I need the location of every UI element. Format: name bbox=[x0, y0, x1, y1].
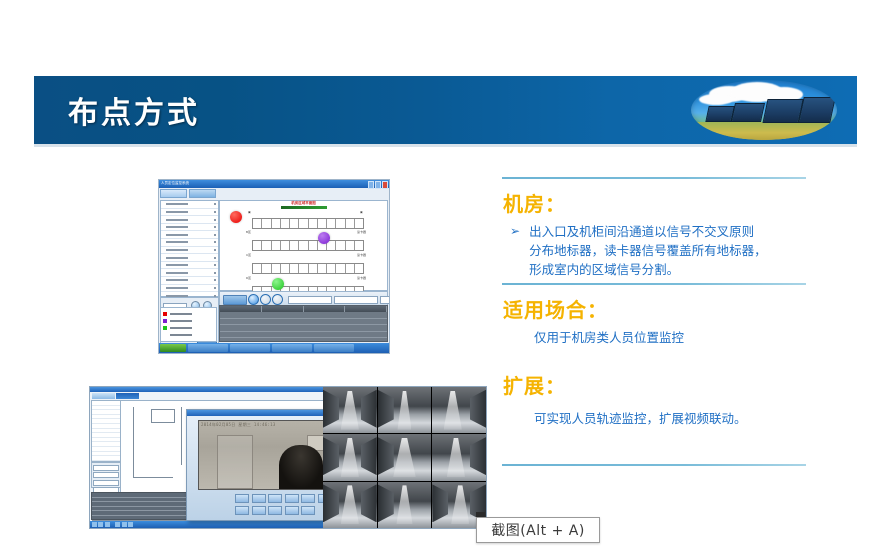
section-heading-kuozhan: 扩展： bbox=[503, 370, 566, 399]
slide-title-bar: 布点方式 bbox=[34, 76, 857, 144]
dialog-button bbox=[268, 506, 282, 515]
rack-row-label: C区 bbox=[246, 253, 251, 257]
rack-row bbox=[252, 240, 364, 251]
tree-item bbox=[161, 231, 218, 239]
legend-item bbox=[163, 331, 214, 338]
locate-icon[interactable] bbox=[248, 294, 259, 305]
camera-tile[interactable] bbox=[323, 482, 377, 528]
refresh-button[interactable] bbox=[223, 295, 247, 305]
video-app-tabs[interactable] bbox=[91, 392, 139, 399]
dialog-button bbox=[235, 494, 249, 503]
tree-item bbox=[161, 277, 218, 285]
section-heading-shiyong: 适用场合： bbox=[503, 294, 608, 323]
divider-3 bbox=[502, 464, 806, 466]
window-controls[interactable] bbox=[368, 181, 388, 187]
camera-tile[interactable] bbox=[323, 434, 377, 480]
person-dropdown[interactable] bbox=[380, 296, 390, 304]
records-table[interactable] bbox=[219, 305, 388, 342]
dialog-button bbox=[301, 506, 315, 515]
kuozhan-line-1: 可实现人员轨迹监控，扩展视频联动。 bbox=[534, 409, 747, 428]
nav-tree[interactable] bbox=[160, 200, 219, 297]
camera-grid[interactable] bbox=[323, 387, 486, 528]
taskbar-item[interactable] bbox=[230, 344, 270, 352]
map-toolbar[interactable] bbox=[219, 291, 388, 306]
rack-row bbox=[252, 263, 364, 274]
video-door bbox=[217, 435, 253, 489]
tree-item bbox=[161, 209, 218, 217]
solar-panel-photo bbox=[691, 80, 837, 140]
area-dropdown[interactable] bbox=[288, 296, 332, 304]
video-taskbar[interactable] bbox=[90, 521, 325, 528]
dialog-button bbox=[285, 494, 299, 503]
camera-tile[interactable] bbox=[323, 387, 377, 433]
tree-item bbox=[161, 254, 218, 262]
map-header: 机房区域平面图 bbox=[281, 201, 327, 210]
tree-item bbox=[161, 224, 218, 232]
app-window-title: 人员定位监控系统 bbox=[161, 181, 189, 185]
dialog-button bbox=[252, 506, 266, 515]
door-marker: ▣ bbox=[360, 210, 363, 214]
table-body bbox=[220, 312, 387, 341]
legend-item bbox=[163, 324, 214, 331]
rack-row-label: D区 bbox=[246, 276, 251, 280]
control-row bbox=[93, 472, 119, 478]
bullet-jifang: ➢ 出入口及机柜间沿通道以信号不交叉原则 分布地标器，读卡器信号覆盖所有地标器，… bbox=[510, 222, 810, 279]
rack-row bbox=[252, 218, 364, 229]
screenshot-tooltip[interactable]: 截图(Alt + A) bbox=[476, 517, 600, 543]
marker-legend bbox=[160, 307, 217, 342]
bullet-line-2: 分布地标器，读卡器信号覆盖所有地标器， bbox=[529, 241, 767, 260]
dialog-button bbox=[301, 494, 315, 503]
shiyong-line-1: 仅用于机房类人员位置监控 bbox=[534, 328, 684, 347]
camera-tile[interactable] bbox=[432, 434, 486, 480]
video-nav-tree[interactable] bbox=[91, 400, 121, 462]
control-row bbox=[93, 465, 119, 471]
person-marker-b[interactable] bbox=[318, 232, 330, 244]
person-marker-c[interactable] bbox=[272, 278, 284, 290]
bullet-line-1: 出入口及机柜间沿通道以信号不交叉原则 bbox=[529, 222, 767, 241]
camera-tile[interactable] bbox=[378, 434, 432, 480]
video-control-pad[interactable] bbox=[91, 462, 121, 488]
taskbar-icon bbox=[92, 522, 97, 527]
divider-2 bbox=[502, 283, 806, 285]
replay-icon[interactable] bbox=[272, 294, 283, 305]
camera-tile[interactable] bbox=[378, 387, 432, 433]
taskbar-icon bbox=[98, 522, 103, 527]
taskbar-item[interactable] bbox=[188, 344, 228, 352]
camera-tile[interactable] bbox=[432, 387, 486, 433]
dialog-button bbox=[268, 494, 282, 503]
bullet-line-3: 形成室内的区域信号分割。 bbox=[529, 260, 767, 279]
video-linkage-screenshot[interactable]: 2014年02月05日 星期三 14:46:13 通道1 机房 bbox=[89, 386, 487, 529]
taskbar-icon bbox=[122, 522, 127, 527]
floor-dropdown[interactable] bbox=[334, 296, 378, 304]
maximize-icon bbox=[375, 181, 381, 189]
map-header-bar bbox=[281, 206, 327, 209]
rack-row-label: 读卡器 bbox=[357, 253, 366, 257]
windows-taskbar[interactable] bbox=[159, 343, 389, 353]
taskbar-icon bbox=[128, 522, 133, 527]
tree-item bbox=[161, 285, 218, 293]
floor-map[interactable]: 机房区域平面图 ▣ ▣ ▣ ▣ B区 读卡器 C区 读卡器 D区 读卡器 bbox=[219, 200, 388, 291]
page-title: 布点方式 bbox=[68, 88, 200, 132]
tab-device[interactable] bbox=[189, 189, 216, 198]
pause-icon[interactable] bbox=[260, 294, 271, 305]
tab-monitor[interactable] bbox=[160, 189, 187, 198]
close-icon bbox=[382, 181, 388, 189]
legend-item bbox=[163, 317, 214, 324]
tree-item bbox=[161, 216, 218, 224]
legend-item bbox=[163, 310, 214, 317]
tree-item bbox=[161, 262, 218, 270]
divider-1 bbox=[502, 177, 806, 179]
taskbar-item[interactable] bbox=[272, 344, 312, 352]
rack-row-label: 读卡器 bbox=[357, 230, 366, 234]
taskbar-icon bbox=[105, 522, 110, 527]
slide-canvas: 布点方式 机房： ➢ 出入口及机柜间沿通道以信号不交叉原则 分布地标器，读卡器信… bbox=[0, 0, 893, 550]
dialog-button bbox=[285, 506, 299, 515]
positioning-software-screenshot[interactable]: 人员定位监控系统 机房区域平面图 bbox=[158, 179, 390, 354]
door-marker: ▣ bbox=[248, 210, 251, 214]
video-person bbox=[279, 445, 323, 489]
section-heading-jifang: 机房： bbox=[503, 188, 566, 217]
taskbar-item[interactable] bbox=[314, 344, 354, 352]
title-underline bbox=[34, 144, 857, 147]
arrow-bullet-icon: ➢ bbox=[510, 222, 520, 241]
minimize-icon bbox=[368, 181, 374, 189]
taskbar-icon bbox=[115, 522, 120, 527]
tab-two[interactable] bbox=[116, 393, 139, 399]
app-tabs[interactable] bbox=[159, 188, 217, 199]
tree-item bbox=[161, 247, 218, 255]
tree-item bbox=[161, 239, 218, 247]
person-marker-a[interactable] bbox=[230, 211, 242, 223]
start-button-icon[interactable] bbox=[160, 344, 186, 352]
tooltip-label: 截图(Alt + A) bbox=[491, 520, 585, 540]
dialog-button bbox=[252, 494, 266, 503]
dialog-button bbox=[235, 506, 249, 515]
video-timestamp: 2014年02月05日 星期三 14:46:13 bbox=[201, 422, 276, 428]
rack-row-label: 读卡器 bbox=[357, 276, 366, 280]
rack-row-label: B区 bbox=[246, 230, 251, 234]
control-row bbox=[93, 480, 119, 486]
camera-tile[interactable] bbox=[378, 482, 432, 528]
tab-one[interactable] bbox=[92, 393, 115, 399]
tree-item bbox=[161, 201, 218, 209]
map-header-label: 机房区域平面图 bbox=[281, 201, 327, 206]
app-window-titlebar: 人员定位监控系统 bbox=[159, 180, 389, 188]
tree-item bbox=[161, 269, 218, 277]
